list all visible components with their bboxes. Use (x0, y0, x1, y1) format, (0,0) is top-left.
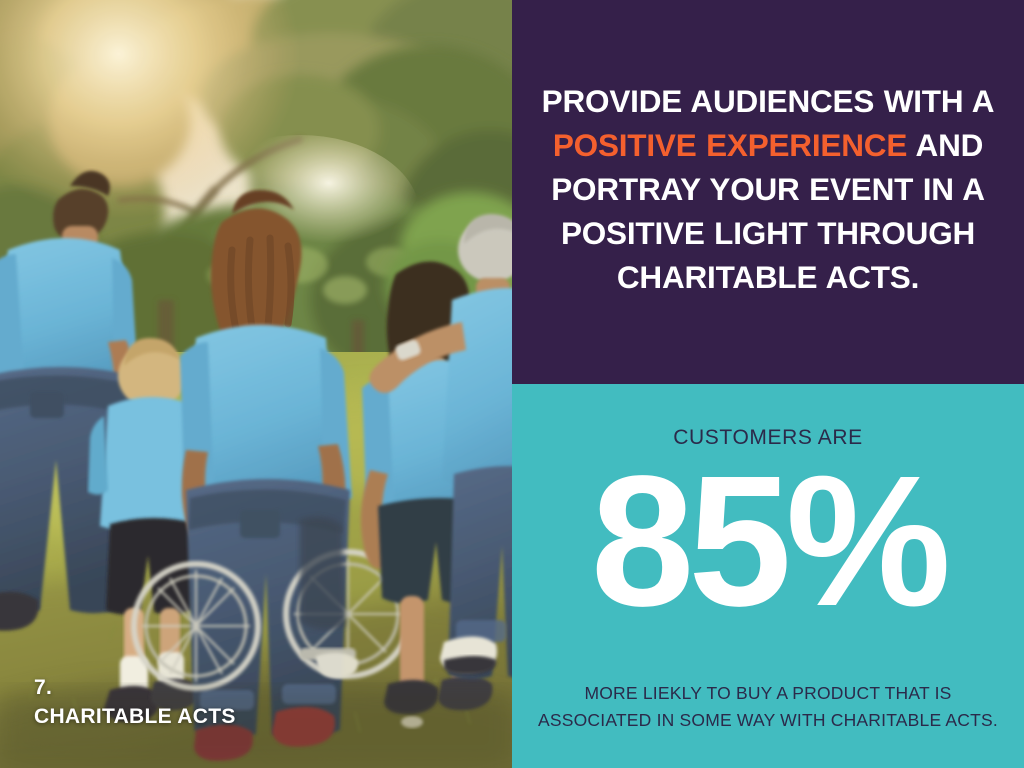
stat-footnote: MORE LIEKLY TO BUY A PRODUCT THAT IS ASS… (512, 680, 1024, 734)
volunteers-photo (0, 0, 512, 768)
photo-caption: 7. CHARITABLE ACTS (34, 674, 236, 732)
headline-text: PROVIDE AUDIENCES WITH A POSITIVE EXPERI… (532, 79, 1004, 305)
stat-value: 85% (591, 450, 945, 619)
stat-panel: CUSTOMERS ARE 85% MORE LIEKLY TO BUY A P… (512, 384, 1024, 768)
headline-panel: PROVIDE AUDIENCES WITH A POSITIVE EXPERI… (512, 0, 1024, 384)
headline-part-1: PROVIDE AUDIENCES WITH A (542, 83, 995, 119)
stat-footnote-line-2: ASSOCIATED IN SOME WAY WITH CHARITABLE A… (526, 707, 1010, 734)
caption-number: 7. (34, 674, 236, 703)
infographic-slide: 7. CHARITABLE ACTS PROVIDE AUDIENCES WIT… (0, 0, 1024, 768)
headline-accent-phrase: POSITIVE EXPERIENCE (553, 127, 907, 163)
caption-title: CHARITABLE ACTS (34, 703, 236, 732)
photo-panel: 7. CHARITABLE ACTS (0, 0, 512, 768)
stat-footnote-line-1: MORE LIEKLY TO BUY A PRODUCT THAT IS (526, 680, 1010, 707)
